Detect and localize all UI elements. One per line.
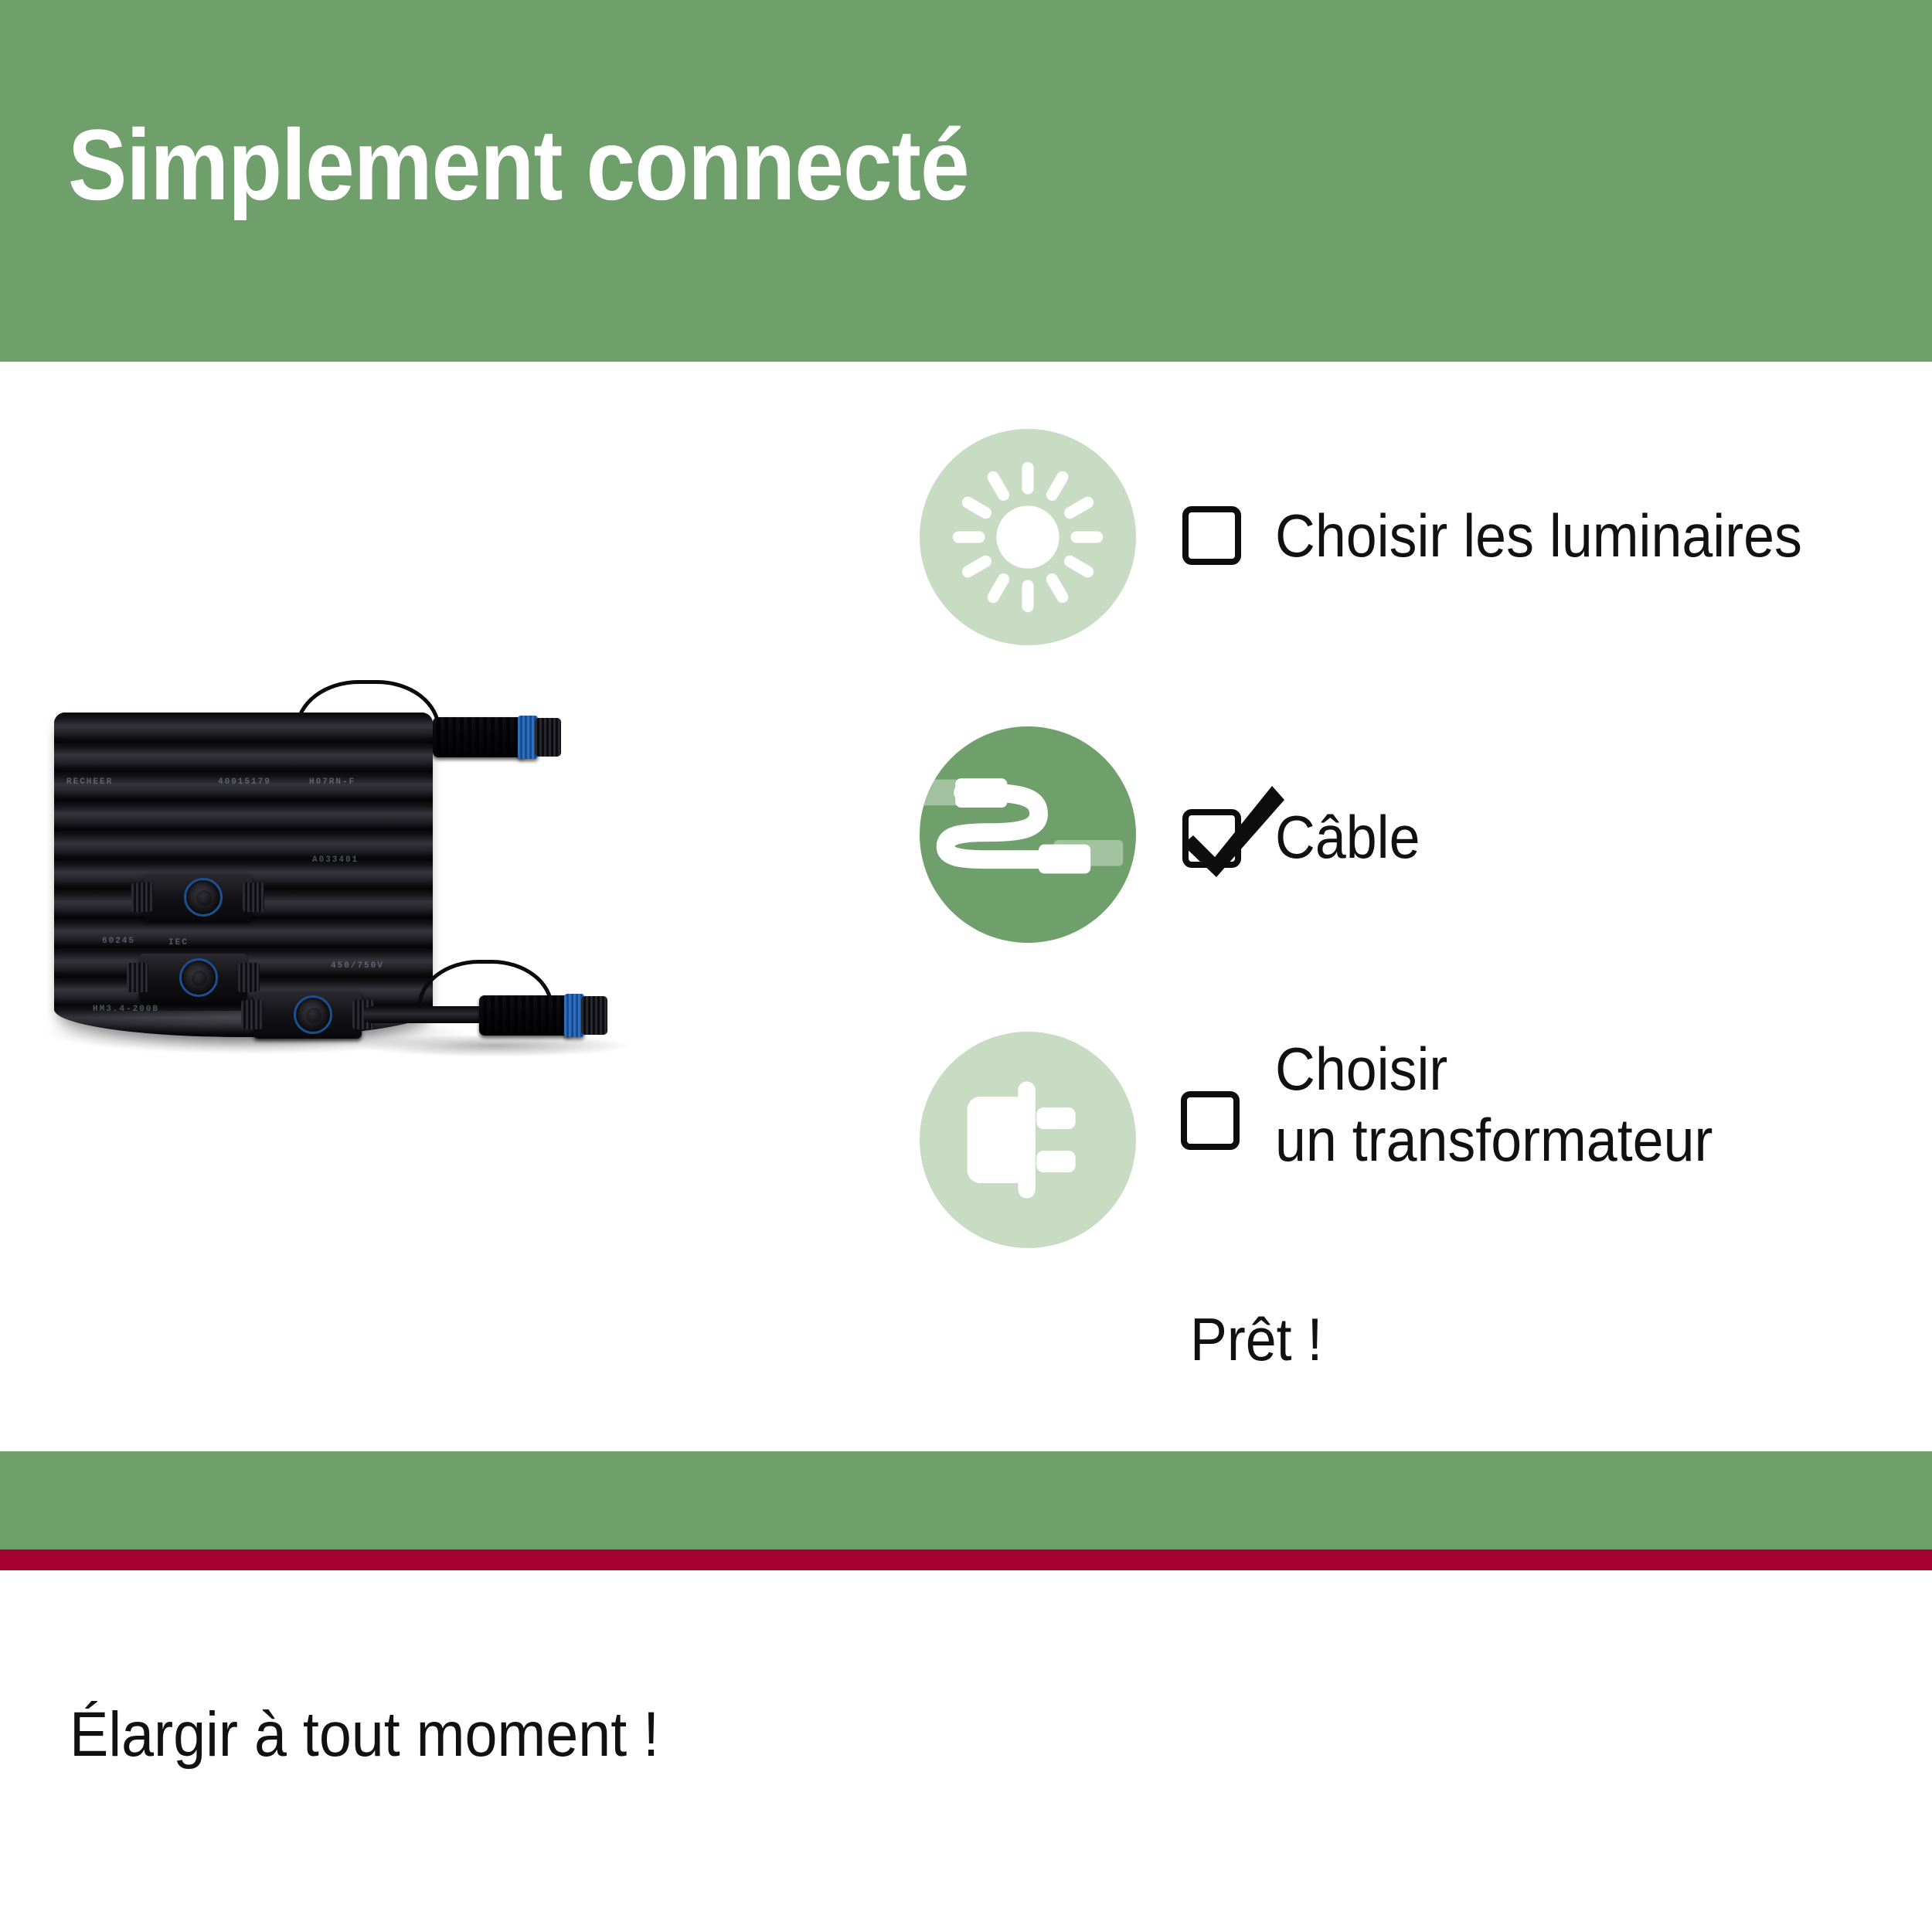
checklist-label-luminaires: Choisir les luminaires <box>1275 500 1802 571</box>
page-title: Simplement connecté <box>68 114 969 215</box>
icon-circle-luminaires <box>920 429 1136 645</box>
connector-shadow <box>355 1034 634 1057</box>
cable-lead-bottom <box>363 1006 487 1023</box>
cable-tee-connector-lower <box>139 954 247 1002</box>
checkbox-luminaires[interactable] <box>1182 506 1241 565</box>
checklist-label-cable: Câble <box>1275 801 1420 872</box>
plug-icon <box>920 1032 1136 1248</box>
cable-connector-top <box>433 717 526 757</box>
product-photo: RECHEER 40015179 H07RN-F A033401 60245 I… <box>31 665 943 1097</box>
sun-icon <box>920 429 1136 645</box>
footer-text: Élargir à tout moment ! <box>70 1699 659 1771</box>
tee-grip-left-icon <box>131 883 153 912</box>
checkbox-cable[interactable] <box>1182 809 1241 868</box>
cable-print-h07rnf: H07RN-F <box>309 777 355 787</box>
promo-page: Simplement connecté RECHEER 40015179 H07… <box>0 0 1932 1932</box>
icon-circle-transformer <box>920 1032 1136 1248</box>
footer-red-band <box>0 1549 1932 1570</box>
cable-print-hm34: HM3.4-200B <box>93 1005 159 1014</box>
tee-port-ring-icon <box>179 958 218 997</box>
cable-print-number: 40015179 <box>218 777 271 787</box>
tee-grip-right-icon <box>243 883 264 912</box>
footer-green-band <box>0 1451 1932 1549</box>
checklist-label-transformer: Choisir un transformateur <box>1275 1033 1713 1175</box>
cable-cap-bottom <box>581 996 607 1035</box>
cable-print-recheer: RECHEER <box>66 777 113 787</box>
cable-tee-connector-upper <box>144 873 252 921</box>
tee-grip-right-icon <box>238 963 260 992</box>
ready-text: Prêt ! <box>1190 1304 1322 1375</box>
cable-print-a033401: A033401 <box>312 855 359 865</box>
cable-print-voltage: 450/750V <box>331 961 384 971</box>
icon-circle-cable <box>920 726 1136 943</box>
cable-tee-connector-bottom <box>253 991 362 1039</box>
checkbox-transformer[interactable] <box>1181 1091 1240 1150</box>
tee-port-ring-icon <box>184 878 223 917</box>
tee-grip-left-icon <box>127 963 148 992</box>
cable-print-iec: IEC <box>168 938 189 947</box>
cable-cap-top <box>535 718 561 757</box>
cable-icon <box>920 726 1136 943</box>
cable-connector-bottom <box>479 995 572 1036</box>
tee-port-ring-icon <box>294 995 332 1034</box>
tee-grip-left-icon <box>241 1000 263 1029</box>
cable-print-60245: 60245 <box>102 937 135 946</box>
